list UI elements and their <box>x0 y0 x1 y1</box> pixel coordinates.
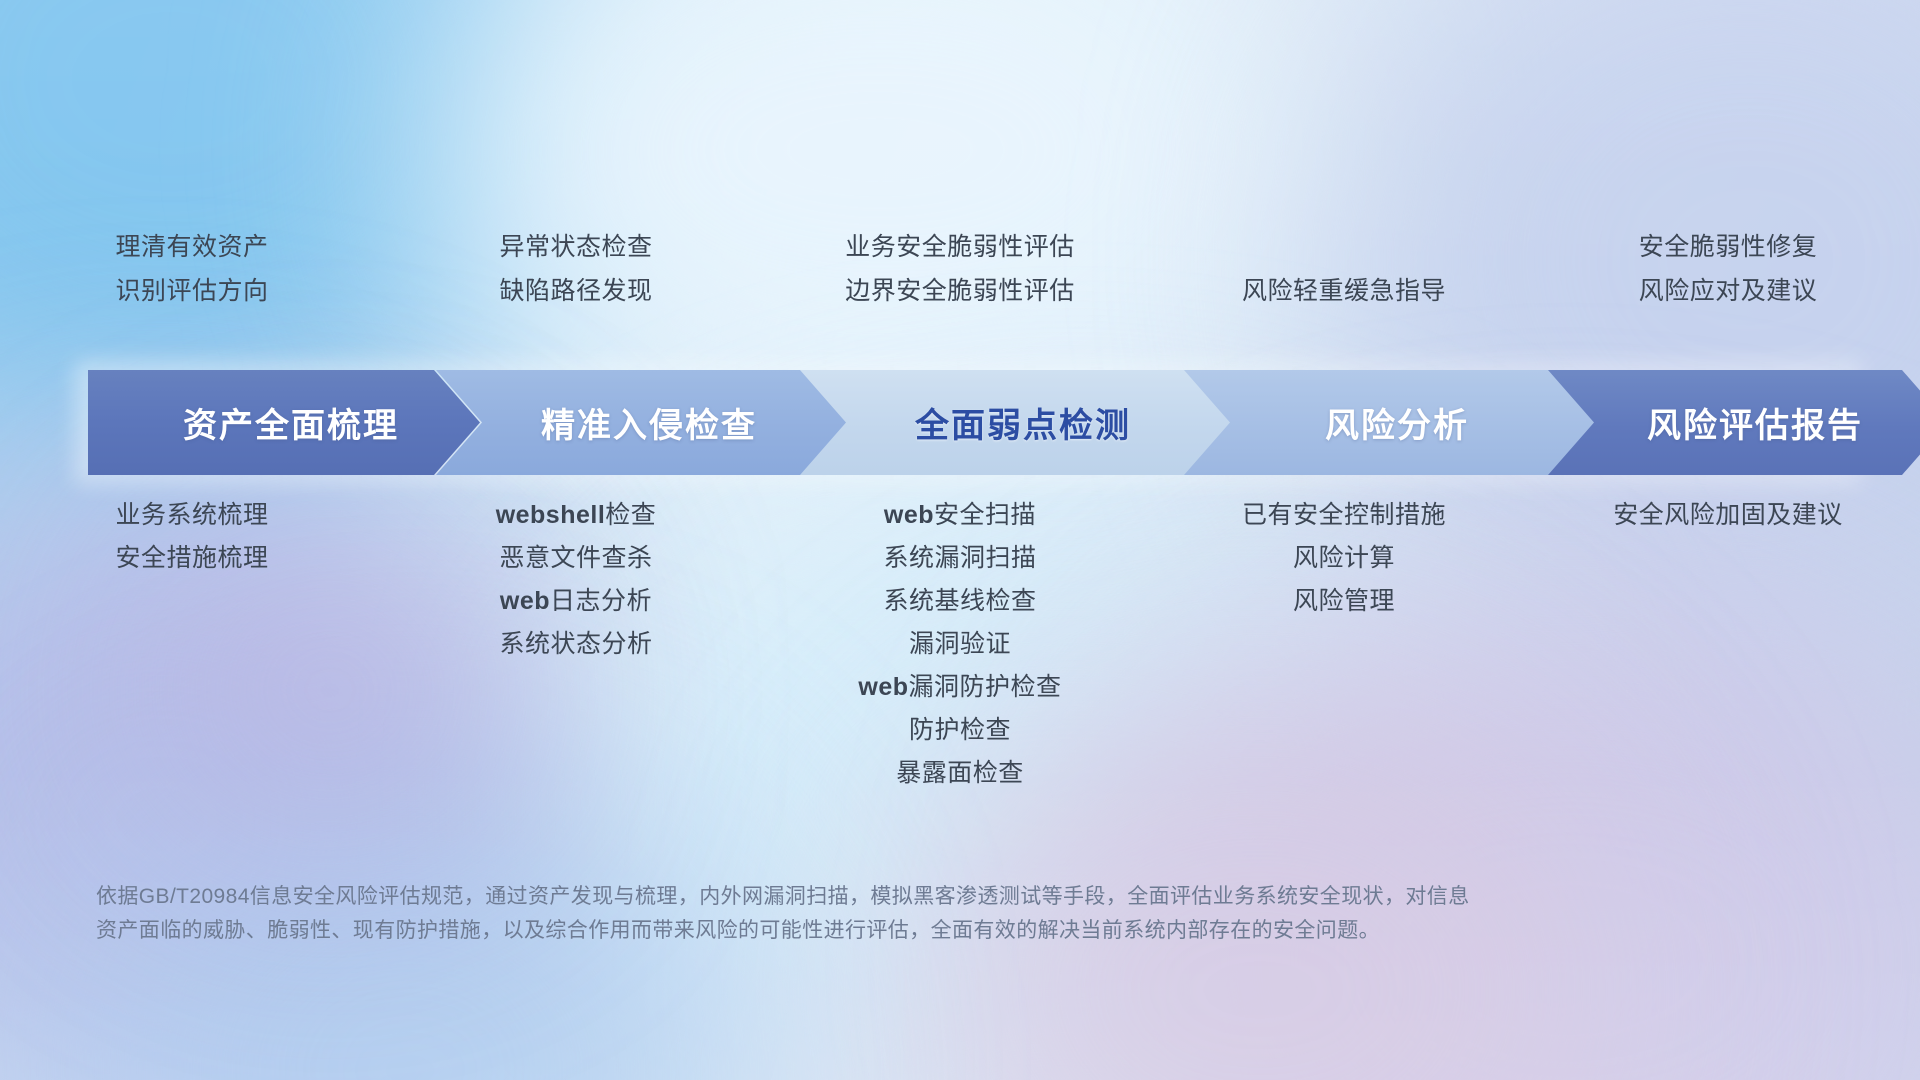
bottom-descriptor-item-text: 系统基线检查 <box>883 587 1036 615</box>
bottom-descriptor-column-1: 业务系统梳理安全措施梳理 <box>0 500 384 788</box>
top-descriptor-item: 识别评估方向 <box>115 276 268 306</box>
bottom-descriptor-item-text: 安全扫描 <box>934 501 1036 529</box>
bottom-descriptor-column-2: webshell检查恶意文件查杀web日志分析系统状态分析 <box>384 500 768 788</box>
bottom-descriptor-item-text: 检查 <box>605 501 656 529</box>
stage-arrow-4[interactable]: 风险分析 <box>1184 370 1596 475</box>
bottom-descriptor-item: 安全风险加固及建议 <box>1613 500 1843 530</box>
footer-line: 资产面临的威胁、脆弱性、现有防护措施，以及综合作用而带来风险的可能性进行评估，全… <box>96 914 1736 948</box>
bottom-descriptor-row: 业务系统梳理安全措施梳理 webshell检查恶意文件查杀web日志分析系统状态… <box>0 500 1920 788</box>
process-diagram: 理清有效资产 识别评估方向 异常状态检查 缺陷路径发现 业务安全脆弱性评估 边界… <box>0 0 1920 1080</box>
bottom-descriptor-item: 安全措施梳理 <box>115 543 268 573</box>
bottom-descriptor-column-5: 安全风险加固及建议 <box>1536 500 1920 788</box>
bottom-descriptor-item: web漏洞防护检查 <box>858 672 1061 702</box>
top-descriptor-item: 风险应对及建议 <box>1639 276 1818 306</box>
top-descriptor-column-5: 安全脆弱性修复 风险应对及建议 <box>1536 232 1920 306</box>
stage-arrow-label: 风险分析 <box>1184 398 1596 447</box>
bottom-descriptor-item: 业务系统梳理 <box>115 500 268 530</box>
stage-arrow-label: 全面弱点检测 <box>800 398 1232 447</box>
bottom-descriptor-item-text: 日志分析 <box>550 587 652 615</box>
stage-arrow-band: 资产全面梳理 精准入侵检查 全面弱点检测 风险分析 风险评估报告 <box>88 370 1848 475</box>
stage-arrow-5[interactable]: 风险评估报告 <box>1548 370 1920 475</box>
top-descriptor-column-3: 业务安全脆弱性评估 边界安全脆弱性评估 <box>768 232 1152 306</box>
bottom-descriptor-item-text: 业务系统梳理 <box>115 501 268 529</box>
bottom-descriptor-item-text: 系统漏洞扫描 <box>883 544 1036 572</box>
bottom-descriptor-item-text: 防护检查 <box>909 716 1011 744</box>
stage-arrow-2[interactable]: 精准入侵检查 <box>436 370 848 475</box>
footer-line: 依据GB/T20984信息安全风险评估规范，通过资产发现与梳理，内外网漏洞扫描，… <box>96 880 1736 914</box>
stage-arrow-label: 风险评估报告 <box>1548 398 1920 447</box>
bottom-descriptor-item-text: 漏洞验证 <box>909 630 1011 658</box>
bottom-descriptor-item: 系统状态分析 <box>499 629 652 659</box>
bottom-descriptor-item-latin: web <box>500 587 550 615</box>
top-descriptor-item: 理清有效资产 <box>115 232 268 262</box>
stage-arrow-label: 资产全面梳理 <box>88 398 480 447</box>
bottom-descriptor-column-3: web安全扫描系统漏洞扫描系统基线检查漏洞验证web漏洞防护检查防护检查暴露面检… <box>768 500 1152 788</box>
bottom-descriptor-item: 系统基线检查 <box>883 586 1036 616</box>
bottom-descriptor-item: 漏洞验证 <box>909 629 1011 659</box>
bottom-descriptor-item-text: 安全措施梳理 <box>115 544 268 572</box>
bottom-descriptor-item: 风险管理 <box>1293 586 1395 616</box>
top-descriptor-column-1: 理清有效资产 识别评估方向 <box>0 232 384 306</box>
bottom-descriptor-item: web日志分析 <box>500 586 652 616</box>
bottom-descriptor-item: 系统漏洞扫描 <box>883 543 1036 573</box>
bottom-descriptor-column-4: 已有安全控制措施风险计算风险管理 <box>1152 500 1536 788</box>
bottom-descriptor-item: 防护检查 <box>909 715 1011 745</box>
bottom-descriptor-item: 恶意文件查杀 <box>499 543 652 573</box>
bottom-descriptor-item-text: 风险管理 <box>1293 587 1395 615</box>
bottom-descriptor-item-text: 安全风险加固及建议 <box>1613 501 1843 529</box>
bottom-descriptor-item: web安全扫描 <box>884 500 1036 530</box>
top-descriptor-item: 风险轻重缓急指导 <box>1242 276 1446 306</box>
stage-arrow-3[interactable]: 全面弱点检测 <box>800 370 1232 475</box>
stage-arrow-label: 精准入侵检查 <box>436 398 848 447</box>
top-descriptor-item: 异常状态检查 <box>499 232 652 262</box>
top-descriptor-item: 安全脆弱性修复 <box>1639 232 1818 262</box>
stage-arrow-1[interactable]: 资产全面梳理 <box>88 370 480 475</box>
bottom-descriptor-item-text: 系统状态分析 <box>499 630 652 658</box>
bottom-descriptor-item-text: 恶意文件查杀 <box>499 544 652 572</box>
top-descriptor-item: 缺陷路径发现 <box>499 276 652 306</box>
top-descriptor-column-2: 异常状态检查 缺陷路径发现 <box>384 232 768 306</box>
bottom-descriptor-item-text: 漏洞防护检查 <box>909 673 1062 701</box>
top-descriptor-column-4: 风险轻重缓急指导 <box>1152 232 1536 306</box>
bottom-descriptor-item-text: 风险计算 <box>1293 544 1395 572</box>
bottom-descriptor-item-text: 已有安全控制措施 <box>1242 501 1446 529</box>
bottom-descriptor-item-latin: web <box>858 673 908 701</box>
bottom-descriptor-item-latin: web <box>884 501 934 529</box>
bottom-descriptor-item: 风险计算 <box>1293 543 1395 573</box>
bottom-descriptor-item-text: 暴露面检查 <box>896 759 1024 787</box>
top-descriptor-item: 边界安全脆弱性评估 <box>845 276 1075 306</box>
top-descriptor-item: 业务安全脆弱性评估 <box>845 232 1075 262</box>
bottom-descriptor-item: webshell检查 <box>496 500 657 530</box>
footer-description: 依据GB/T20984信息安全风险评估规范，通过资产发现与梳理，内外网漏洞扫描，… <box>96 880 1736 948</box>
bottom-descriptor-item: 已有安全控制措施 <box>1242 500 1446 530</box>
top-descriptor-row: 理清有效资产 识别评估方向 异常状态检查 缺陷路径发现 业务安全脆弱性评估 边界… <box>0 232 1920 306</box>
bottom-descriptor-item-latin: webshell <box>496 501 606 529</box>
bottom-descriptor-item: 暴露面检查 <box>896 758 1024 788</box>
